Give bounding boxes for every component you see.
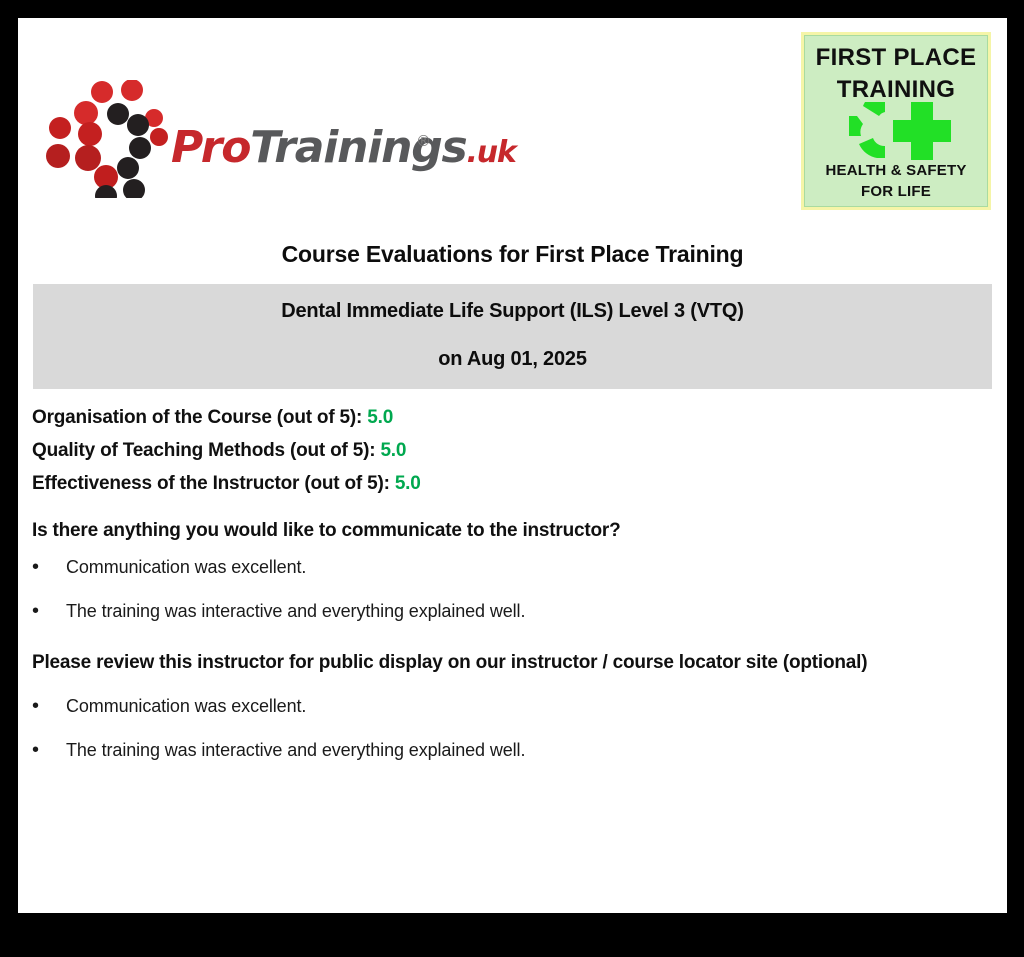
first-place-training-badge: FIRST PLACE TRAINING HEALTH & SAFETY FOR…	[801, 32, 991, 210]
logo-text-pro: Pro	[171, 122, 250, 173]
bullet-icon: •	[32, 600, 39, 622]
evaluation-body: Organisation of the Course (out of 5): 5…	[18, 389, 1007, 761]
question-public-review: Please review this instructor for public…	[18, 650, 1007, 675]
rating-label: Organisation of the Course (out of 5):	[32, 407, 362, 428]
answer-text: The training was interactive and everyth…	[66, 740, 525, 760]
protrainings-wordmark: ProTrainings.uk	[171, 126, 516, 170]
rating-label: Effectiveness of the Instructor (out of …	[32, 473, 390, 494]
rating-value: 5.0	[367, 407, 393, 428]
list-item: • The training was interactive and every…	[18, 601, 1007, 622]
answer-text: The training was interactive and everyth…	[66, 601, 525, 621]
rating-row-instructor-effectiveness: Effectiveness of the Instructor (out of …	[18, 473, 1007, 495]
list-item: • Communication was excellent.	[18, 557, 1007, 578]
badge-line-1: FIRST PLACE	[805, 44, 987, 72]
answer-list-question-1: • Communication was excellent. • The tra…	[18, 557, 1007, 622]
bullet-icon: •	[32, 739, 39, 761]
list-item: • Communication was excellent.	[18, 696, 1007, 717]
registered-trademark-icon: ®	[416, 132, 431, 150]
badge-line-2: TRAINING	[805, 76, 987, 104]
rating-value: 5.0	[380, 440, 406, 461]
protrainings-dots-icon	[44, 80, 169, 198]
rating-row-organisation: Organisation of the Course (out of 5): 5…	[18, 407, 1007, 429]
rating-row-teaching-methods: Quality of Teaching Methods (out of 5): …	[18, 440, 1007, 462]
course-name: Dental Immediate Life Support (ILS) Leve…	[43, 300, 982, 323]
protrainings-logo: ProTrainings.uk ®	[44, 80, 444, 210]
rating-label: Quality of Teaching Methods (out of 5):	[32, 440, 375, 461]
badge-line-3: HEALTH & SAFETY	[805, 162, 987, 179]
answer-text: Communication was excellent.	[66, 696, 306, 716]
course-header-band: Dental Immediate Life Support (ILS) Leve…	[33, 284, 992, 389]
bullet-icon: •	[32, 695, 39, 717]
evaluation-page: ProTrainings.uk ® FIRST PLACE TRAINING H…	[18, 18, 1007, 913]
page-title: Course Evaluations for First Place Train…	[18, 241, 1007, 268]
list-item: • The training was interactive and every…	[18, 740, 1007, 761]
badge-inner: FIRST PLACE TRAINING HEALTH & SAFETY FOR…	[804, 35, 988, 207]
question-communicate-to-instructor: Is there anything you would like to comm…	[18, 518, 1007, 543]
course-date: on Aug 01, 2025	[43, 348, 982, 371]
badge-line-4: FOR LIFE	[805, 183, 987, 200]
page-header: ProTrainings.uk ® FIRST PLACE TRAINING H…	[18, 18, 1007, 223]
answer-list-question-2: • Communication was excellent. • The tra…	[18, 696, 1007, 761]
green-cross-icon	[849, 102, 951, 160]
logo-text-tld: .uk	[467, 135, 516, 170]
answer-text: Communication was excellent.	[66, 557, 306, 577]
logo-text-trainings: Trainings	[250, 122, 466, 173]
bullet-icon: •	[32, 556, 39, 578]
rating-value: 5.0	[395, 473, 421, 494]
